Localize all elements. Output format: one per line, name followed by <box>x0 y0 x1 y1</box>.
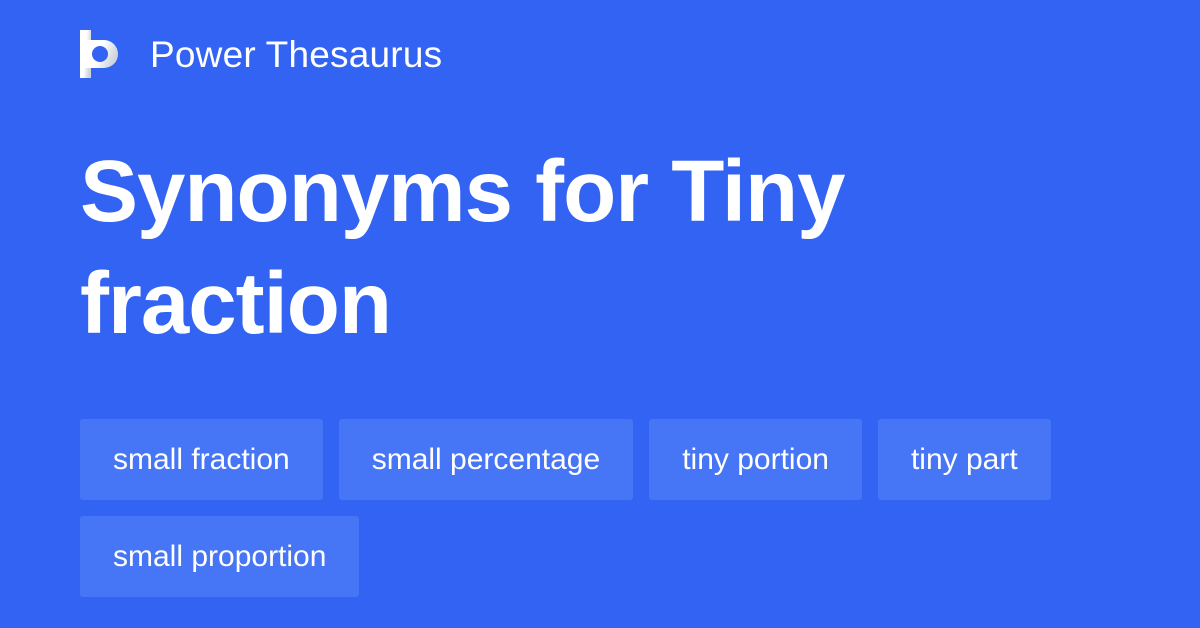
synonym-tag[interactable]: tiny part <box>878 419 1051 500</box>
synonym-tag-list: small fraction small percentage tiny por… <box>80 419 1130 597</box>
synonym-tag[interactable]: small percentage <box>339 419 633 500</box>
brand-name: Power Thesaurus <box>150 36 442 73</box>
synonym-tag[interactable]: small fraction <box>80 419 323 500</box>
page-title: Synonyms for Tiny fraction <box>80 136 1120 360</box>
power-thesaurus-b-logo-icon <box>80 30 124 78</box>
synonym-tag[interactable]: tiny portion <box>649 419 862 500</box>
synonym-tag[interactable]: small proportion <box>80 516 359 597</box>
social-card-canvas: Power Thesaurus Synonyms for Tiny fracti… <box>0 0 1200 628</box>
brand-header[interactable]: Power Thesaurus <box>80 28 442 80</box>
